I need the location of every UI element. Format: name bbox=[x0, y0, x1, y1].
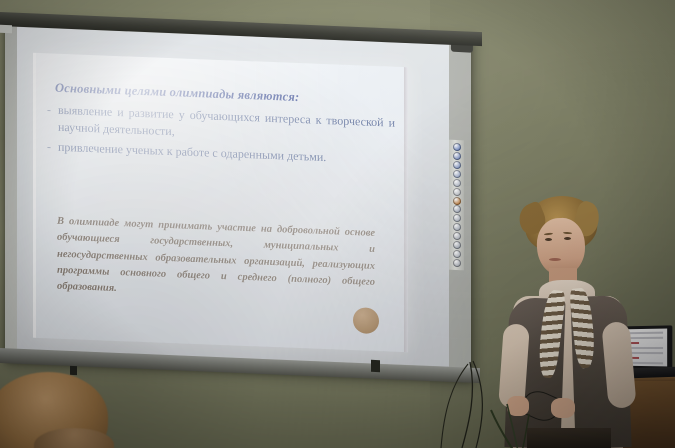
eye-right bbox=[564, 237, 571, 240]
eye-left bbox=[545, 238, 552, 241]
hand-right bbox=[551, 398, 575, 418]
plant-foreground bbox=[487, 386, 547, 448]
classroom-scene: Основными целями олимпиады являются: - в… bbox=[0, 0, 675, 448]
mouth bbox=[549, 258, 561, 261]
